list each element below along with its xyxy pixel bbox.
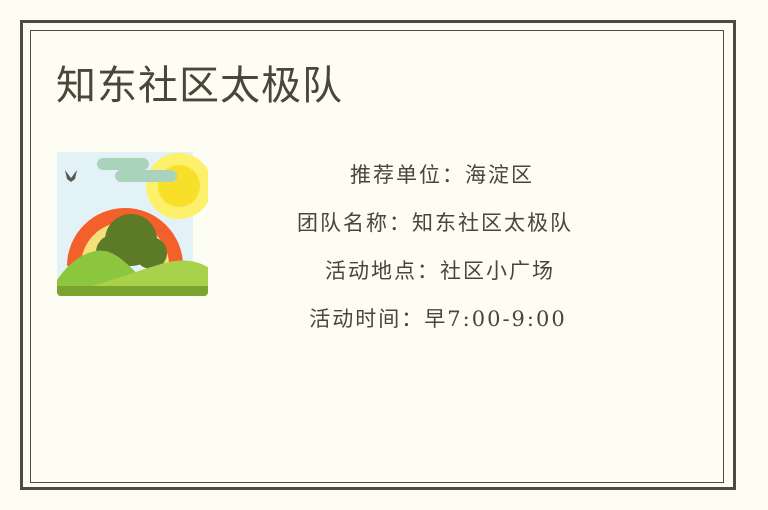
info-block: 推荐单位：海淀区 团队名称：知东社区太极队 活动地点：社区小广场 活动时间：早7…: [225, 162, 645, 332]
info-line-activity-location: 活动地点：社区小广场: [225, 258, 645, 284]
landscape-rainbow-illustration: [57, 148, 208, 296]
info-line-team-name: 团队名称：知东社区太极队: [225, 210, 645, 236]
page-title: 知东社区太极队: [56, 62, 343, 110]
info-line-recommending-unit: 推荐单位：海淀区: [225, 162, 645, 188]
info-line-activity-time: 活动时间：早7:00-9:00: [225, 306, 645, 332]
poster-card: 知东社区太极队: [0, 0, 768, 510]
ground-strip: [57, 286, 208, 296]
